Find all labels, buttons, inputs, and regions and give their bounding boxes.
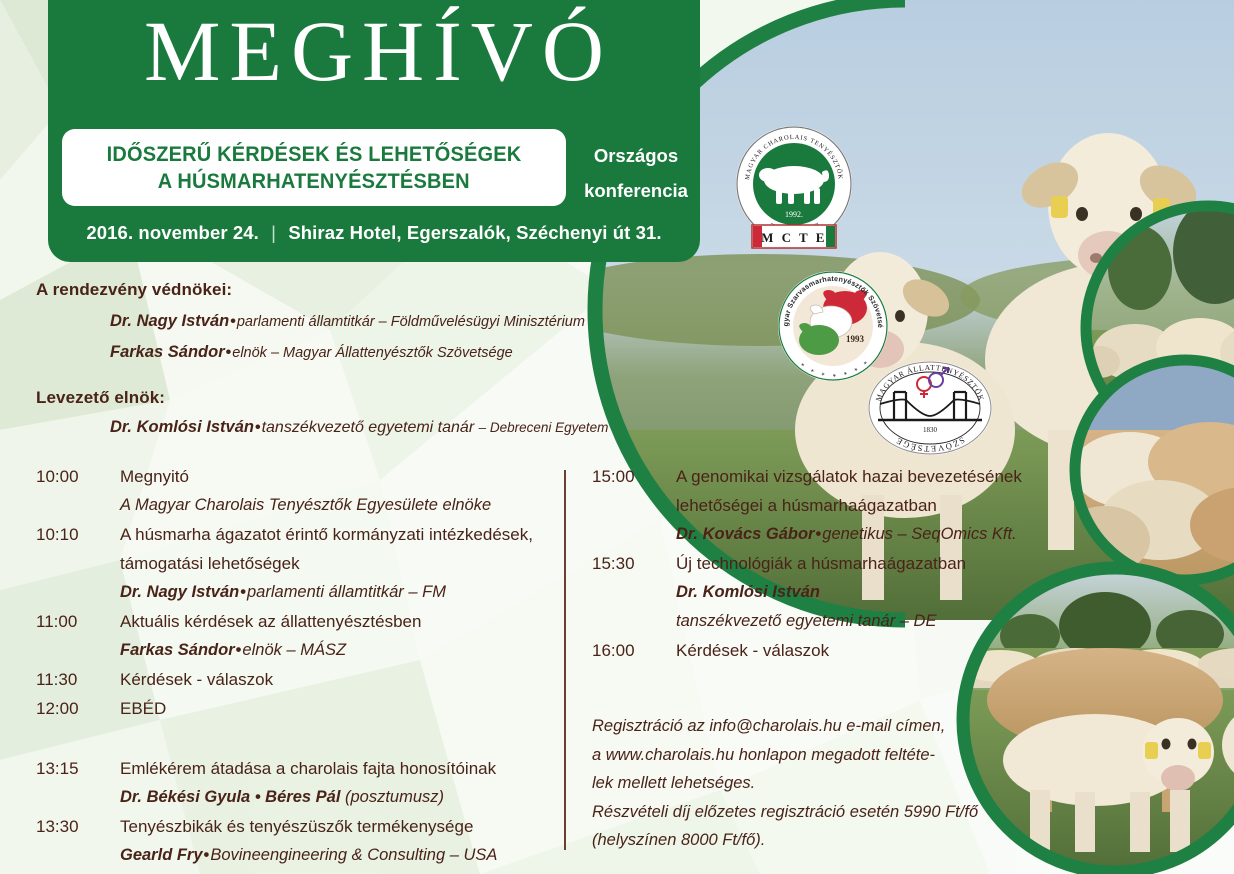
program-topic: A húsmarha ágazatot érintő kormányzati i… bbox=[120, 520, 536, 549]
program-speaker: Gearld Fry•Bovineengineering & Consultin… bbox=[120, 841, 536, 870]
program-row: 15:30 Új technológiák a húsmarhaágazatba… bbox=[592, 549, 1012, 636]
program-time: 11:30 bbox=[36, 665, 120, 694]
patron-2-role: elnök – Magyar Állattenyésztők Szövetség… bbox=[232, 345, 512, 361]
patrons-heading: A rendezvény védnökei: bbox=[36, 280, 232, 300]
program-break-gap bbox=[36, 723, 536, 754]
program-topic: Új technológiák a húsmarhaágazatban bbox=[676, 549, 1012, 578]
program-time: 15:00 bbox=[592, 462, 676, 491]
patron-1-name: Dr. Nagy István bbox=[110, 312, 229, 330]
logo-mcte: MAGYAR CHAROLAIS TENYÉSZTŐK EGYESÜLETE 1… bbox=[732, 122, 856, 262]
logo-mcte-year: 1992. bbox=[785, 210, 803, 219]
chair-name: Dr. Komlósi István bbox=[110, 418, 254, 436]
program-subtitle: A Magyar Charolais Tenyésztők Egyesülete… bbox=[120, 491, 536, 520]
registration-line: lek mellett lehetséges. bbox=[592, 769, 992, 798]
program-speaker: Dr. Komlósi István bbox=[676, 578, 1012, 607]
program-time: 10:00 bbox=[36, 462, 120, 491]
program-topic-cont: lehetőségei a húsmarhaágazatban bbox=[676, 491, 1022, 520]
chair-heading: Levezető elnök: bbox=[36, 388, 165, 408]
patron-item-2: Farkas Sándor•elnök – Magyar Állattenyés… bbox=[110, 343, 513, 362]
program-speaker: Dr. Békési Gyula • Béres Pál (posztumusz… bbox=[120, 783, 536, 812]
registration-block: Regisztráció az info@charolais.hu e-mail… bbox=[592, 712, 992, 855]
speaker-name: Dr. Kovács Gábor bbox=[676, 525, 814, 543]
program-row: 10:10 A húsmarha ágazatot érintő kormány… bbox=[36, 520, 536, 607]
program-row: 15:00 A genomikai vizsgálatok hazai beve… bbox=[592, 462, 1012, 549]
program-row: 12:00 EBÉD bbox=[36, 694, 536, 723]
registration-line: a www.charolais.hu honlapon megadott fel… bbox=[592, 741, 992, 770]
speaker-name: Farkas Sándor bbox=[120, 641, 235, 659]
program-topic: Tenyészbikák és tenyészüszők termékenysé… bbox=[120, 812, 536, 841]
program-row: 10:00 Megnyitó A Magyar Charolais Tenyés… bbox=[36, 462, 536, 520]
program-row: 13:30 Tenyészbikák és tenyészüszők termé… bbox=[36, 812, 536, 870]
program-topic: A genomikai vizsgálatok hazai bevezetésé… bbox=[676, 462, 1022, 491]
logo-masz-year: 1830 bbox=[923, 426, 938, 434]
program-column-left: 10:00 Megnyitó A Magyar Charolais Tenyés… bbox=[36, 462, 536, 870]
chair-bullet: • bbox=[254, 419, 262, 436]
logo-mcte-banner: M C T E bbox=[761, 230, 827, 245]
program-time: 10:10 bbox=[36, 520, 120, 549]
program-topic: Kérdések - válaszok bbox=[676, 636, 1012, 665]
registration-line: Regisztráció az info@charolais.hu e-mail… bbox=[592, 712, 992, 741]
program-topic: Aktuális kérdések az állattenyésztésben bbox=[120, 607, 536, 636]
logo-mszsz-year: 1993 bbox=[846, 334, 865, 344]
speaker-name: Dr. Békési Gyula • Béres Pál bbox=[120, 788, 340, 806]
speaker-role: genetikus – SeqOmics Kft. bbox=[822, 525, 1016, 543]
speaker-role: parlamenti államtitkár – FM bbox=[247, 583, 446, 601]
program-speaker: Dr. Kovács Gábor•genetikus – SeqOmics Kf… bbox=[676, 520, 1022, 549]
speaker-name: Dr. Nagy István bbox=[120, 583, 239, 601]
patron-item-1: Dr. Nagy István•parlamenti államtitkár –… bbox=[110, 312, 585, 331]
patron-1-bullet: • bbox=[229, 313, 237, 330]
speaker-bullet: • bbox=[239, 583, 247, 601]
speaker-name: Gearld Fry bbox=[120, 846, 203, 864]
registration-line: (helyszínen 8000 Ft/fő). bbox=[592, 826, 992, 855]
program-row: 11:00 Aktuális kérdések az állattenyészt… bbox=[36, 607, 536, 665]
program-time: 11:00 bbox=[36, 607, 120, 636]
program-time: 13:15 bbox=[36, 754, 120, 783]
chair-affiliation: – Debreceni Egyetem bbox=[479, 420, 609, 435]
program-row: 11:30 Kérdések - válaszok bbox=[36, 665, 536, 694]
program-time: 13:30 bbox=[36, 812, 120, 841]
column-divider bbox=[564, 470, 566, 850]
program-topic-cont: támogatási lehetőségek bbox=[120, 549, 536, 578]
program-speaker: Farkas Sándor•elnök – MÁSZ bbox=[120, 636, 536, 665]
patron-1-role: parlamenti államtitkár – Földművelésügyi… bbox=[237, 314, 585, 330]
program-topic: Kérdések - válaszok bbox=[120, 665, 536, 694]
program-topic: Emlékérem átadása a charolais fajta hono… bbox=[120, 754, 536, 783]
chair-role: tanszékvezető egyetemi tanár bbox=[262, 419, 475, 436]
speaker-name: Dr. Komlósi István bbox=[676, 583, 820, 601]
chair-item: Dr. Komlósi István•tanszékvezető egyetem… bbox=[110, 418, 608, 437]
patron-2-name: Farkas Sándor bbox=[110, 343, 225, 361]
program-speaker-role: tanszékvezető egyetemi tanár – DE bbox=[676, 607, 1012, 636]
speaker-role: (posztumusz) bbox=[345, 788, 444, 806]
speaker-role: Bovineengineering & Consulting – USA bbox=[210, 846, 497, 864]
program-row: 13:15 Emlékérem átadása a charolais fajt… bbox=[36, 754, 536, 812]
speaker-role: elnök – MÁSZ bbox=[242, 641, 346, 659]
program-time: 15:30 bbox=[592, 549, 676, 578]
program-topic: Megnyitó bbox=[120, 462, 536, 491]
invitation-poster: MEGHÍVÓ IDŐSZERŰ KÉRDÉSEK ÉS LEHETŐSÉGEK… bbox=[0, 0, 1234, 874]
registration-line: Részvételi díj előzetes regisztráció ese… bbox=[592, 798, 992, 827]
program-column-right: 15:00 A genomikai vizsgálatok hazai beve… bbox=[592, 462, 1012, 665]
program-speaker: Dr. Nagy István•parlamenti államtitkár –… bbox=[120, 578, 536, 607]
program-row: 16:00 Kérdések - válaszok bbox=[592, 636, 1012, 665]
program-time: 16:00 bbox=[592, 636, 676, 665]
logo-masz: 1830 MAGYAR ÁLLATTENYÉSZTŐK SZÖVETSÉGE bbox=[866, 358, 994, 458]
program-topic: EBÉD bbox=[120, 694, 536, 723]
program-time: 12:00 bbox=[36, 694, 120, 723]
